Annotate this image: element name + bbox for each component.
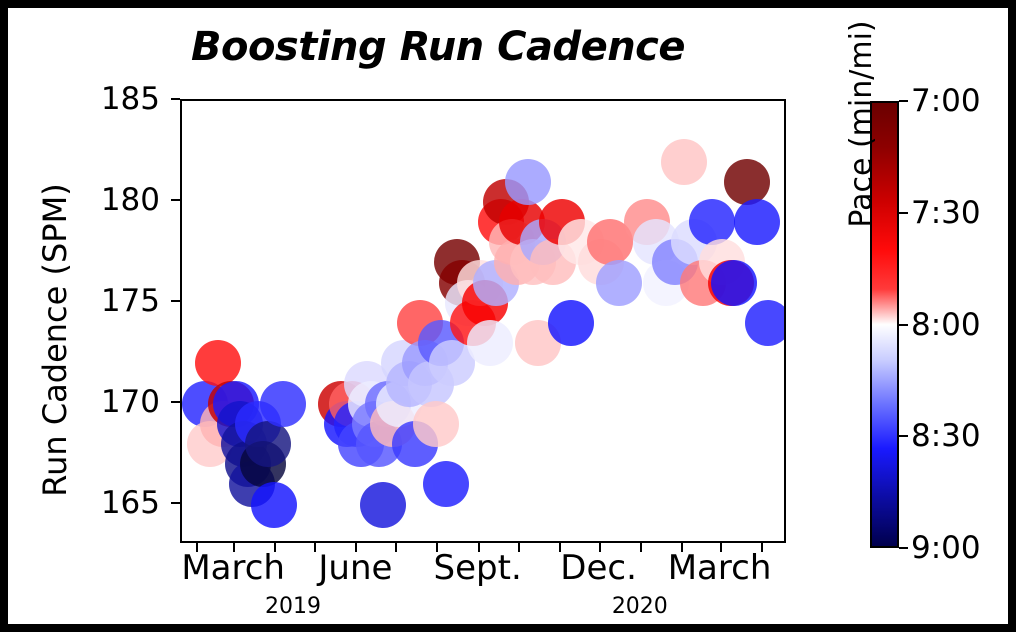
colorbar-tick-mark bbox=[899, 212, 908, 214]
x-tick-mark bbox=[314, 543, 316, 552]
scatter-point bbox=[467, 320, 513, 366]
figure-container: Boosting Run Cadence Run Cadence (SPM) P… bbox=[0, 0, 1016, 632]
scatter-point bbox=[596, 260, 642, 306]
scatter-point bbox=[195, 340, 241, 386]
colorbar-tick-mark bbox=[899, 547, 908, 549]
y-tick-mark bbox=[171, 98, 180, 100]
y-tick-label: 180 bbox=[76, 182, 160, 218]
y-tick-label: 165 bbox=[76, 485, 160, 521]
scatter-point bbox=[505, 159, 551, 205]
scatter-point bbox=[360, 482, 406, 528]
scatter-point bbox=[689, 199, 735, 245]
x-tick-label: June bbox=[318, 548, 392, 588]
x-tick-mark bbox=[395, 543, 397, 552]
x-tick-label: March bbox=[668, 548, 772, 588]
scatter-point bbox=[548, 300, 594, 346]
y-axis-label: Run Cadence (SPM) bbox=[36, 125, 74, 555]
scatter-point bbox=[245, 421, 291, 467]
colorbar-tick-mark bbox=[899, 100, 908, 102]
x-year-label: 2020 bbox=[612, 594, 668, 619]
scatter-point bbox=[423, 461, 469, 507]
scatter-point bbox=[745, 300, 786, 346]
y-tick-label: 170 bbox=[76, 384, 160, 420]
y-tick-label: 175 bbox=[76, 283, 160, 319]
colorbar-label: Pace (min/mi) bbox=[844, 0, 879, 324]
colorbar-tick-label: 7:00 bbox=[911, 83, 981, 119]
x-tick-label: Sept. bbox=[434, 548, 522, 588]
colorbar-tick-label: 8:00 bbox=[911, 307, 981, 343]
scatter-point bbox=[724, 159, 770, 205]
x-tick-mark bbox=[640, 543, 642, 552]
y-tick-mark bbox=[171, 502, 180, 504]
scatter-point bbox=[413, 401, 459, 447]
scatter-point bbox=[661, 139, 707, 185]
y-tick-mark bbox=[171, 300, 180, 302]
colorbar-tick-mark bbox=[899, 435, 908, 437]
colorbar-tick-label: 9:00 bbox=[911, 530, 981, 566]
plot-area bbox=[180, 99, 786, 543]
y-tick-mark bbox=[171, 401, 180, 403]
scatter-point bbox=[711, 260, 757, 306]
page-title: Boosting Run Cadence bbox=[8, 24, 868, 70]
x-tick-label: Dec. bbox=[560, 548, 637, 588]
scatter-point bbox=[734, 199, 780, 245]
y-tick-mark bbox=[171, 199, 180, 201]
y-tick-label: 185 bbox=[76, 81, 160, 117]
colorbar-tick-label: 7:30 bbox=[911, 195, 981, 231]
x-year-label: 2019 bbox=[265, 594, 321, 619]
scatter-point bbox=[251, 482, 297, 528]
colorbar-tick-mark bbox=[899, 324, 908, 326]
scatter-point bbox=[260, 381, 306, 427]
x-tick-label: March bbox=[181, 548, 285, 588]
colorbar-tick-label: 8:30 bbox=[911, 418, 981, 454]
